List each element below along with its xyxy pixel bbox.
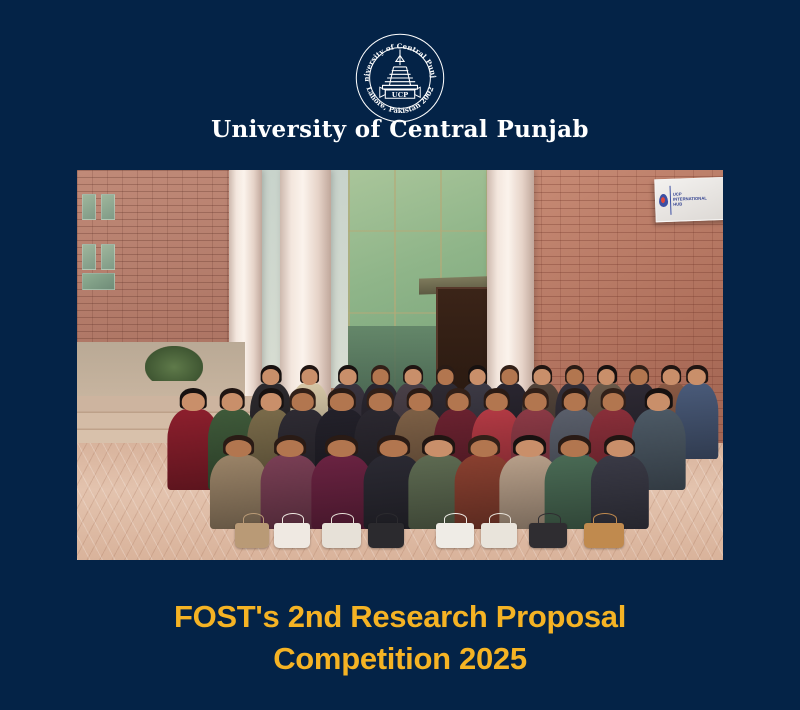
head	[437, 369, 453, 384]
head	[502, 369, 518, 384]
head	[602, 393, 624, 410]
event-title-line2: Competition 2025	[0, 638, 800, 680]
head	[515, 440, 543, 457]
group-of-people	[77, 170, 723, 560]
head	[525, 393, 547, 410]
handbag	[235, 523, 269, 548]
poster-canvas: University of Central Punjab Lahore, Pak…	[0, 0, 800, 710]
head	[534, 369, 551, 384]
ucp-crest-seal-icon: University of Central Punjab Lahore, Pak…	[354, 32, 446, 124]
handbag	[322, 523, 360, 548]
handbag	[529, 523, 567, 548]
head	[563, 393, 585, 410]
handbag	[584, 523, 624, 548]
head	[469, 369, 486, 384]
ucp-wordmark: University of Central Punjab	[0, 116, 800, 143]
handbag	[436, 523, 474, 548]
head	[688, 369, 706, 384]
head	[369, 393, 392, 410]
head	[470, 440, 497, 457]
head	[340, 369, 357, 384]
head	[225, 440, 252, 457]
head	[292, 393, 314, 410]
head	[606, 440, 633, 457]
head	[598, 369, 615, 384]
handbag	[368, 523, 404, 548]
head	[380, 440, 407, 457]
head	[328, 440, 356, 457]
head	[373, 369, 389, 384]
head	[262, 369, 280, 384]
head	[561, 440, 588, 457]
head	[408, 393, 430, 410]
seal-banner-text: UCP	[392, 91, 408, 99]
head	[301, 369, 317, 384]
head	[276, 440, 303, 457]
head	[646, 393, 670, 410]
handbag	[274, 523, 310, 548]
event-photo-scene: UCP INTERNATIONAL HUB	[77, 170, 723, 560]
handbag	[481, 523, 517, 548]
event-photo: UCP INTERNATIONAL HUB	[77, 170, 723, 560]
head	[182, 393, 205, 410]
head	[221, 393, 243, 410]
event-title-line1: FOST's 2nd Research Proposal	[174, 599, 626, 634]
event-title: FOST's 2nd Research Proposal Competition…	[0, 596, 800, 680]
head	[330, 393, 353, 410]
head	[447, 393, 469, 410]
head	[631, 369, 647, 384]
head	[566, 369, 582, 384]
head	[486, 393, 508, 410]
head	[405, 369, 422, 384]
poster-header: University of Central Punjab Lahore, Pak…	[0, 0, 800, 160]
head	[425, 440, 453, 457]
